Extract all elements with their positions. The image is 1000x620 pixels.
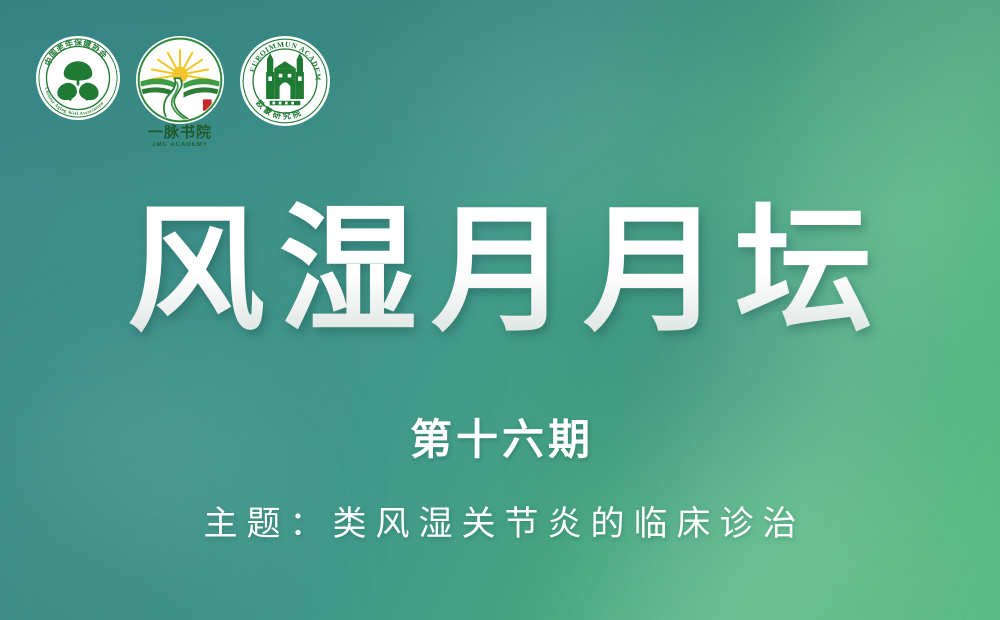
jmc-academy-caption: 一脉书院 JMC ACADEMY [136,126,224,148]
issue-number: 第十六期 [0,406,1000,467]
chinese-aging-well-association-icon: 中国老年保健协会 Chinese Aging Well Association [36,36,120,120]
theme-subtitle: 主题：类风湿关节炎的临床诊治 [0,496,1000,545]
logo-jmc-academy: 一脉书院 JMC ACADEMY [136,36,224,148]
logo-row: 中国老年保健协会 Chinese Aging Well Association [36,36,330,148]
jmc-academy-icon [136,36,224,124]
jmc-academy-caption-cn: 一脉书院 [136,126,224,142]
logo-chinese-aging-well-association: 中国老年保健协会 Chinese Aging Well Association [36,36,120,120]
euroimmun-academy-icon: EUROIMMUN ACADEMY 欧蒙研究院 [240,36,330,126]
logo-euroimmun-academy: EUROIMMUN ACADEMY 欧蒙研究院 [240,36,330,126]
jmc-academy-caption-en: JMC ACADEMY [136,142,224,148]
poster-canvas: 中国老年保健协会 Chinese Aging Well Association [0,0,1000,620]
page-title: 风湿月月坛 [0,196,1000,346]
